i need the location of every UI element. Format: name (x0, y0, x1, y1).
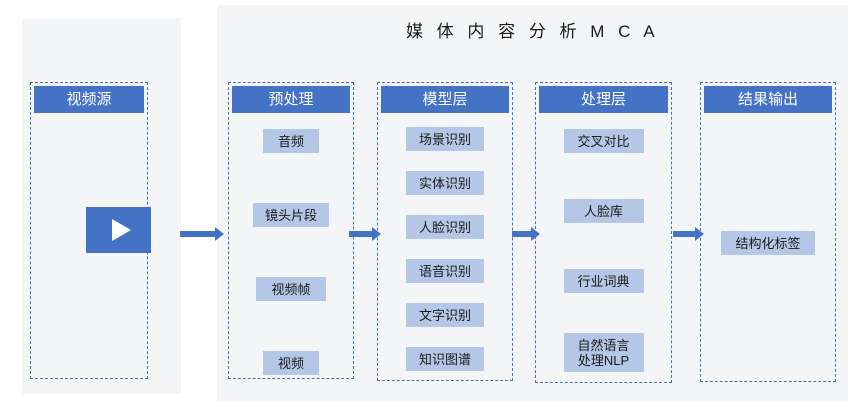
list-item[interactable]: 知识图谱 (406, 347, 484, 371)
stage-body-model-layer: 场景识别 实体识别 人脸识别 语音识别 文字识别 知识图谱 (378, 115, 512, 376)
stage-body-processing-layer: 交叉对比 人脸库 行业词典 自然语言 处理NLP (536, 115, 671, 378)
stage-header-preprocess: 预处理 (232, 86, 350, 113)
stage-result-output[interactable]: 结果输出 结构化标签 (700, 82, 836, 382)
video-thumbnail[interactable] (86, 207, 151, 253)
stage-preprocess[interactable]: 预处理 音频 镜头片段 视频帧 视频 (228, 82, 354, 379)
stage-processing-layer[interactable]: 处理层 交叉对比 人脸库 行业词典 自然语言 处理NLP (535, 82, 672, 383)
arrow-preprocess-to-model (349, 227, 381, 241)
list-item[interactable]: 视频 (263, 351, 319, 375)
list-item[interactable]: 音频 (263, 129, 319, 153)
stage-header-processing-layer: 处理层 (539, 86, 668, 113)
list-item[interactable]: 结构化标签 (721, 231, 815, 255)
list-item[interactable]: 人脸识别 (406, 215, 484, 239)
list-item[interactable]: 自然语言 处理NLP (564, 333, 644, 372)
stage-body-preprocess: 音频 镜头片段 视频帧 视频 (229, 115, 353, 374)
list-item[interactable]: 交叉对比 (564, 129, 644, 153)
list-item[interactable]: 场景识别 (406, 127, 484, 151)
arrow-source-to-preprocess (180, 227, 224, 241)
list-item[interactable]: 文字识别 (406, 303, 484, 327)
stage-header-video-source: 视频源 (34, 86, 144, 113)
list-item[interactable]: 行业词典 (564, 269, 644, 293)
stage-video-source[interactable]: 视频源 (30, 82, 148, 379)
list-item[interactable]: 镜头片段 (253, 203, 329, 227)
list-item[interactable]: 语音识别 (406, 259, 484, 283)
arrow-model-to-processing (512, 227, 540, 241)
stage-body-video-source (31, 115, 147, 374)
stage-header-result-output: 结果输出 (704, 86, 832, 113)
list-item[interactable]: 实体识别 (406, 171, 484, 195)
stage-header-model-layer: 模型层 (381, 86, 509, 113)
play-icon (112, 219, 131, 241)
list-item[interactable]: 视频帧 (256, 277, 326, 301)
stage-model-layer[interactable]: 模型层 场景识别 实体识别 人脸识别 语音识别 文字识别 知识图谱 (377, 82, 513, 381)
arrow-processing-to-output (673, 227, 704, 241)
page-title: 媒 体 内 容 分 析 M C A (217, 17, 848, 42)
stage-body-result-output: 结构化标签 (701, 115, 835, 377)
list-item[interactable]: 人脸库 (564, 199, 644, 223)
